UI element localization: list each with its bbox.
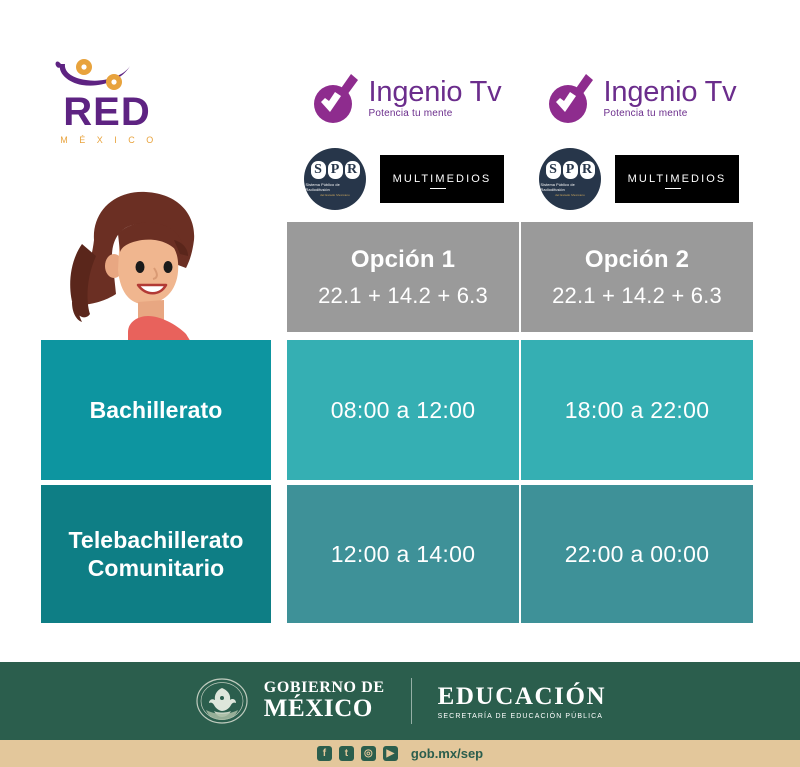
option-header-2: Opción 2 22.1 + 14.2 + 6.3 bbox=[521, 222, 753, 332]
schedule-cell-bachillerato-opcion1: 08:00 a 12:00 bbox=[287, 340, 519, 480]
educacion-line2: SECRETARÍA DE EDUCACIÓN PÚBLICA bbox=[438, 713, 607, 720]
schedule-cell-telebachillerato-opcion2: 22:00 a 00:00 bbox=[521, 485, 753, 623]
schedule-time-text: 08:00 a 12:00 bbox=[331, 397, 476, 424]
red-logo-word: RED bbox=[52, 92, 162, 132]
student-girl-illustration bbox=[42, 182, 242, 347]
government-website-url[interactable]: gob.mx/sep bbox=[411, 746, 483, 761]
schedule-time-text: 18:00 a 22:00 bbox=[565, 397, 710, 424]
option-header-1: Opción 1 22.1 + 14.2 + 6.3 bbox=[287, 222, 519, 332]
youtube-icon[interactable]: ▶ bbox=[383, 746, 398, 761]
spr-letter-p-1: P bbox=[328, 161, 343, 179]
educacion-line1: EDUCACIÓN bbox=[438, 683, 607, 711]
ingenio-tv-tagline-2: Potencia tu mente bbox=[604, 109, 737, 119]
spr-letter-r-2: R bbox=[580, 161, 595, 179]
footer-divider bbox=[411, 678, 412, 724]
ingenio-tv-name-2: Ingenio Tv bbox=[604, 78, 737, 107]
ingenio-tv-tagline-1: Potencia tu mente bbox=[369, 109, 502, 119]
multimedios-label-2: MULTIMEDIOS bbox=[628, 173, 727, 185]
instagram-icon[interactable]: ◎ bbox=[361, 746, 376, 761]
row-label-text-bachillerato: Bachillerato bbox=[90, 396, 223, 424]
spr-subtitle-2b: del Estado Mexicano bbox=[555, 193, 585, 197]
row-label-text-line2: Comunitario bbox=[88, 554, 225, 582]
red-mexico-logo: RED M É X I C O bbox=[52, 58, 162, 158]
multimedios-label-1: MULTIMEDIOS bbox=[393, 173, 492, 185]
option-header-title-1: Opción 1 bbox=[351, 246, 455, 274]
channel-logos-column-2: Ingenio Tv Potencia tu mente S P R Siste… bbox=[521, 66, 757, 216]
twitter-icon[interactable]: t bbox=[339, 746, 354, 761]
spr-letter-p-2: P bbox=[563, 161, 578, 179]
red-swirl-icon bbox=[52, 58, 162, 94]
schedule-time-text: 22:00 a 00:00 bbox=[565, 541, 710, 568]
spr-subtitle-1a: Sistema Público de Radiodifusión bbox=[306, 182, 365, 192]
partner-logos-row-1: S P R Sistema Público de Radiodifusión d… bbox=[286, 148, 522, 210]
channel-logos-column-1: Ingenio Tv Potencia tu mente S P R Siste… bbox=[286, 66, 522, 216]
row-label-text-line1: Telebachillerato bbox=[68, 526, 243, 554]
schedule-time-text: 12:00 a 14:00 bbox=[331, 541, 476, 568]
social-media-bar: f t ◎ ▶ gob.mx/sep bbox=[0, 740, 800, 767]
government-footer: GOBIERNO DE MÉXICO EDUCACIÓN SECRETARÍA … bbox=[0, 662, 800, 740]
partner-logos-row-2: S P R Sistema Público de Radiodifusión d… bbox=[521, 148, 757, 210]
gobierno-line1: GOBIERNO DE bbox=[264, 680, 385, 696]
multimedios-underline-1 bbox=[430, 188, 446, 190]
spr-logo-2: S P R Sistema Público de Radiodifusión d… bbox=[539, 148, 601, 210]
multimedios-underline-2 bbox=[665, 188, 681, 190]
multimedios-logo-1: MULTIMEDIOS bbox=[380, 155, 504, 203]
spr-letter-s-1: S bbox=[311, 161, 326, 179]
ingenio-check-icon bbox=[307, 70, 363, 126]
gobierno-de-mexico-wordmark: GOBIERNO DE MÉXICO bbox=[264, 680, 385, 722]
gobierno-line2: MÉXICO bbox=[264, 696, 385, 722]
row-label-bachillerato: Bachillerato bbox=[41, 340, 271, 480]
multimedios-logo-2: MULTIMEDIOS bbox=[615, 155, 739, 203]
spr-subtitle-2a: Sistema Público de Radiodifusión bbox=[541, 182, 600, 192]
ingenio-tv-logo-2: Ingenio Tv Potencia tu mente bbox=[521, 66, 757, 130]
spr-logo-1: S P R Sistema Público de Radiodifusión d… bbox=[304, 148, 366, 210]
ingenio-check-icon bbox=[542, 70, 598, 126]
ingenio-tv-logo-1: Ingenio Tv Potencia tu mente bbox=[286, 66, 522, 130]
multimedios-text-1: MULTIMEDIOS bbox=[393, 173, 492, 185]
row-label-telebachillerato-comunitario: Telebachillerato Comunitario bbox=[41, 485, 271, 623]
spr-letter-s-2: S bbox=[546, 161, 561, 179]
spr-letter-r-1: R bbox=[345, 161, 360, 179]
spr-subtitle-1b: del Estado Mexicano bbox=[320, 193, 350, 197]
option-header-channels-2: 22.1 + 14.2 + 6.3 bbox=[552, 283, 722, 309]
schedule-cell-bachillerato-opcion2: 18:00 a 22:00 bbox=[521, 340, 753, 480]
option-header-channels-1: 22.1 + 14.2 + 6.3 bbox=[318, 283, 488, 309]
option-header-title-2: Opción 2 bbox=[585, 246, 689, 274]
ingenio-tv-name-1: Ingenio Tv bbox=[369, 78, 502, 107]
schedule-cell-telebachillerato-opcion1: 12:00 a 14:00 bbox=[287, 485, 519, 623]
facebook-icon[interactable]: f bbox=[317, 746, 332, 761]
red-logo-subtitle: M É X I C O bbox=[52, 135, 162, 145]
multimedios-text-2: MULTIMEDIOS bbox=[628, 173, 727, 185]
mexican-coat-of-arms-icon bbox=[194, 678, 250, 724]
educacion-wordmark: EDUCACIÓN SECRETARÍA DE EDUCACIÓN PÚBLIC… bbox=[438, 683, 607, 720]
